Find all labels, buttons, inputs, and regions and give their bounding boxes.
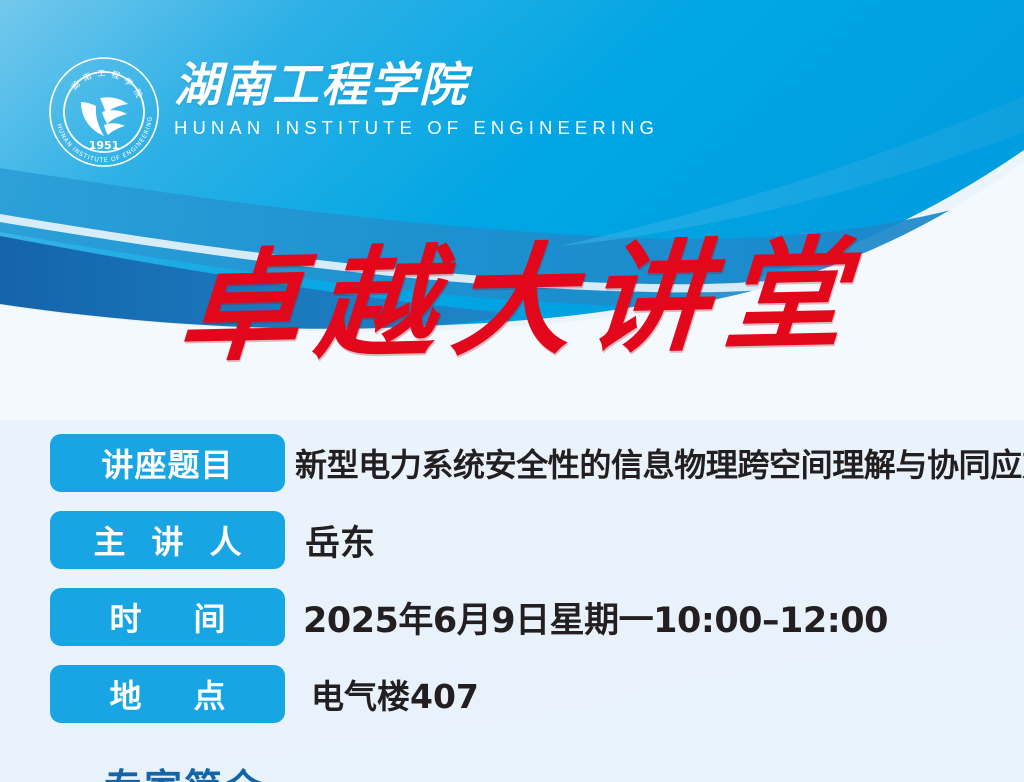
value-location: 电气楼407 xyxy=(285,670,479,718)
label-speaker: 主讲人 xyxy=(67,517,267,563)
info-row-topic: 讲座题目 新型电力系统安全性的信息物理跨空间理解与协同应对机制 xyxy=(50,434,1010,492)
section-heading-expert-profile: 专家简介 xyxy=(104,757,264,782)
university-name-cn: 湖南工程学院 xyxy=(174,62,659,110)
label-pill-time: 时间 xyxy=(50,588,285,646)
university-logo-block: 1951 湖 南 工 程 学 院 HUNAN INSTITUTE OF ENGI… xyxy=(48,56,659,168)
value-topic: 新型电力系统安全性的信息物理跨空间理解与协同应对机制 xyxy=(285,440,1024,486)
info-row-location: 地点 电气楼407 xyxy=(50,665,1010,723)
info-row-speaker: 主讲人 岳东 xyxy=(50,511,1010,569)
info-row-time: 时间 2025年6月9日星期一10:00–12:00 xyxy=(50,588,1010,646)
university-name-en: HUNAN INSTITUTE OF ENGINEERING xyxy=(174,117,659,139)
label-pill-topic: 讲座题目 xyxy=(50,434,285,492)
university-emblem-icon: 1951 湖 南 工 程 学 院 HUNAN INSTITUTE OF ENGI… xyxy=(48,56,160,168)
value-speaker: 岳东 xyxy=(285,515,375,566)
label-time: 时间 xyxy=(57,594,277,640)
value-time: 2025年6月9日星期一10:00–12:00 xyxy=(285,592,888,643)
lecture-info-list: 讲座题目 新型电力系统安全性的信息物理跨空间理解与协同应对机制 主讲人 岳东 时… xyxy=(50,434,1010,742)
label-location: 地点 xyxy=(57,671,277,717)
university-wordmark: 湖南工程学院 HUNAN INSTITUTE OF ENGINEERING xyxy=(174,56,659,139)
main-title-text: 卓越大讲堂 xyxy=(159,235,864,370)
poster-main-title: 卓越大讲堂 xyxy=(0,242,1024,362)
label-pill-location: 地点 xyxy=(50,665,285,723)
lecture-poster: 1951 湖 南 工 程 学 院 HUNAN INSTITUTE OF ENGI… xyxy=(0,0,1024,782)
label-pill-speaker: 主讲人 xyxy=(50,511,285,569)
label-topic: 讲座题目 xyxy=(101,440,233,486)
svg-text:1951: 1951 xyxy=(89,139,120,152)
